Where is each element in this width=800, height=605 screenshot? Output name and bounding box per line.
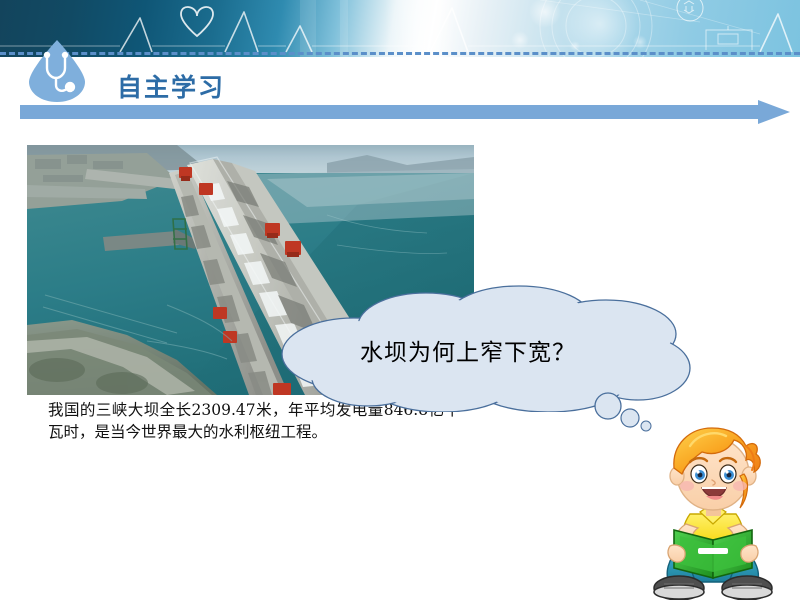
molecule-icon bbox=[677, 0, 703, 21]
page-title: 自主学习 bbox=[117, 68, 225, 104]
heart-outline-icon bbox=[181, 7, 213, 36]
stethoscope-icon bbox=[27, 40, 87, 102]
header-dashed-line bbox=[0, 52, 800, 55]
banner-graphics bbox=[0, 0, 800, 57]
cartoon-boy-reading bbox=[650, 418, 795, 600]
thought-bubble-text: 水坝为何上窄下宽？ bbox=[360, 333, 576, 367]
slide-root: 自主学习 bbox=[0, 0, 800, 600]
header-banner bbox=[0, 0, 800, 57]
thought-bubble-dots bbox=[592, 392, 662, 438]
